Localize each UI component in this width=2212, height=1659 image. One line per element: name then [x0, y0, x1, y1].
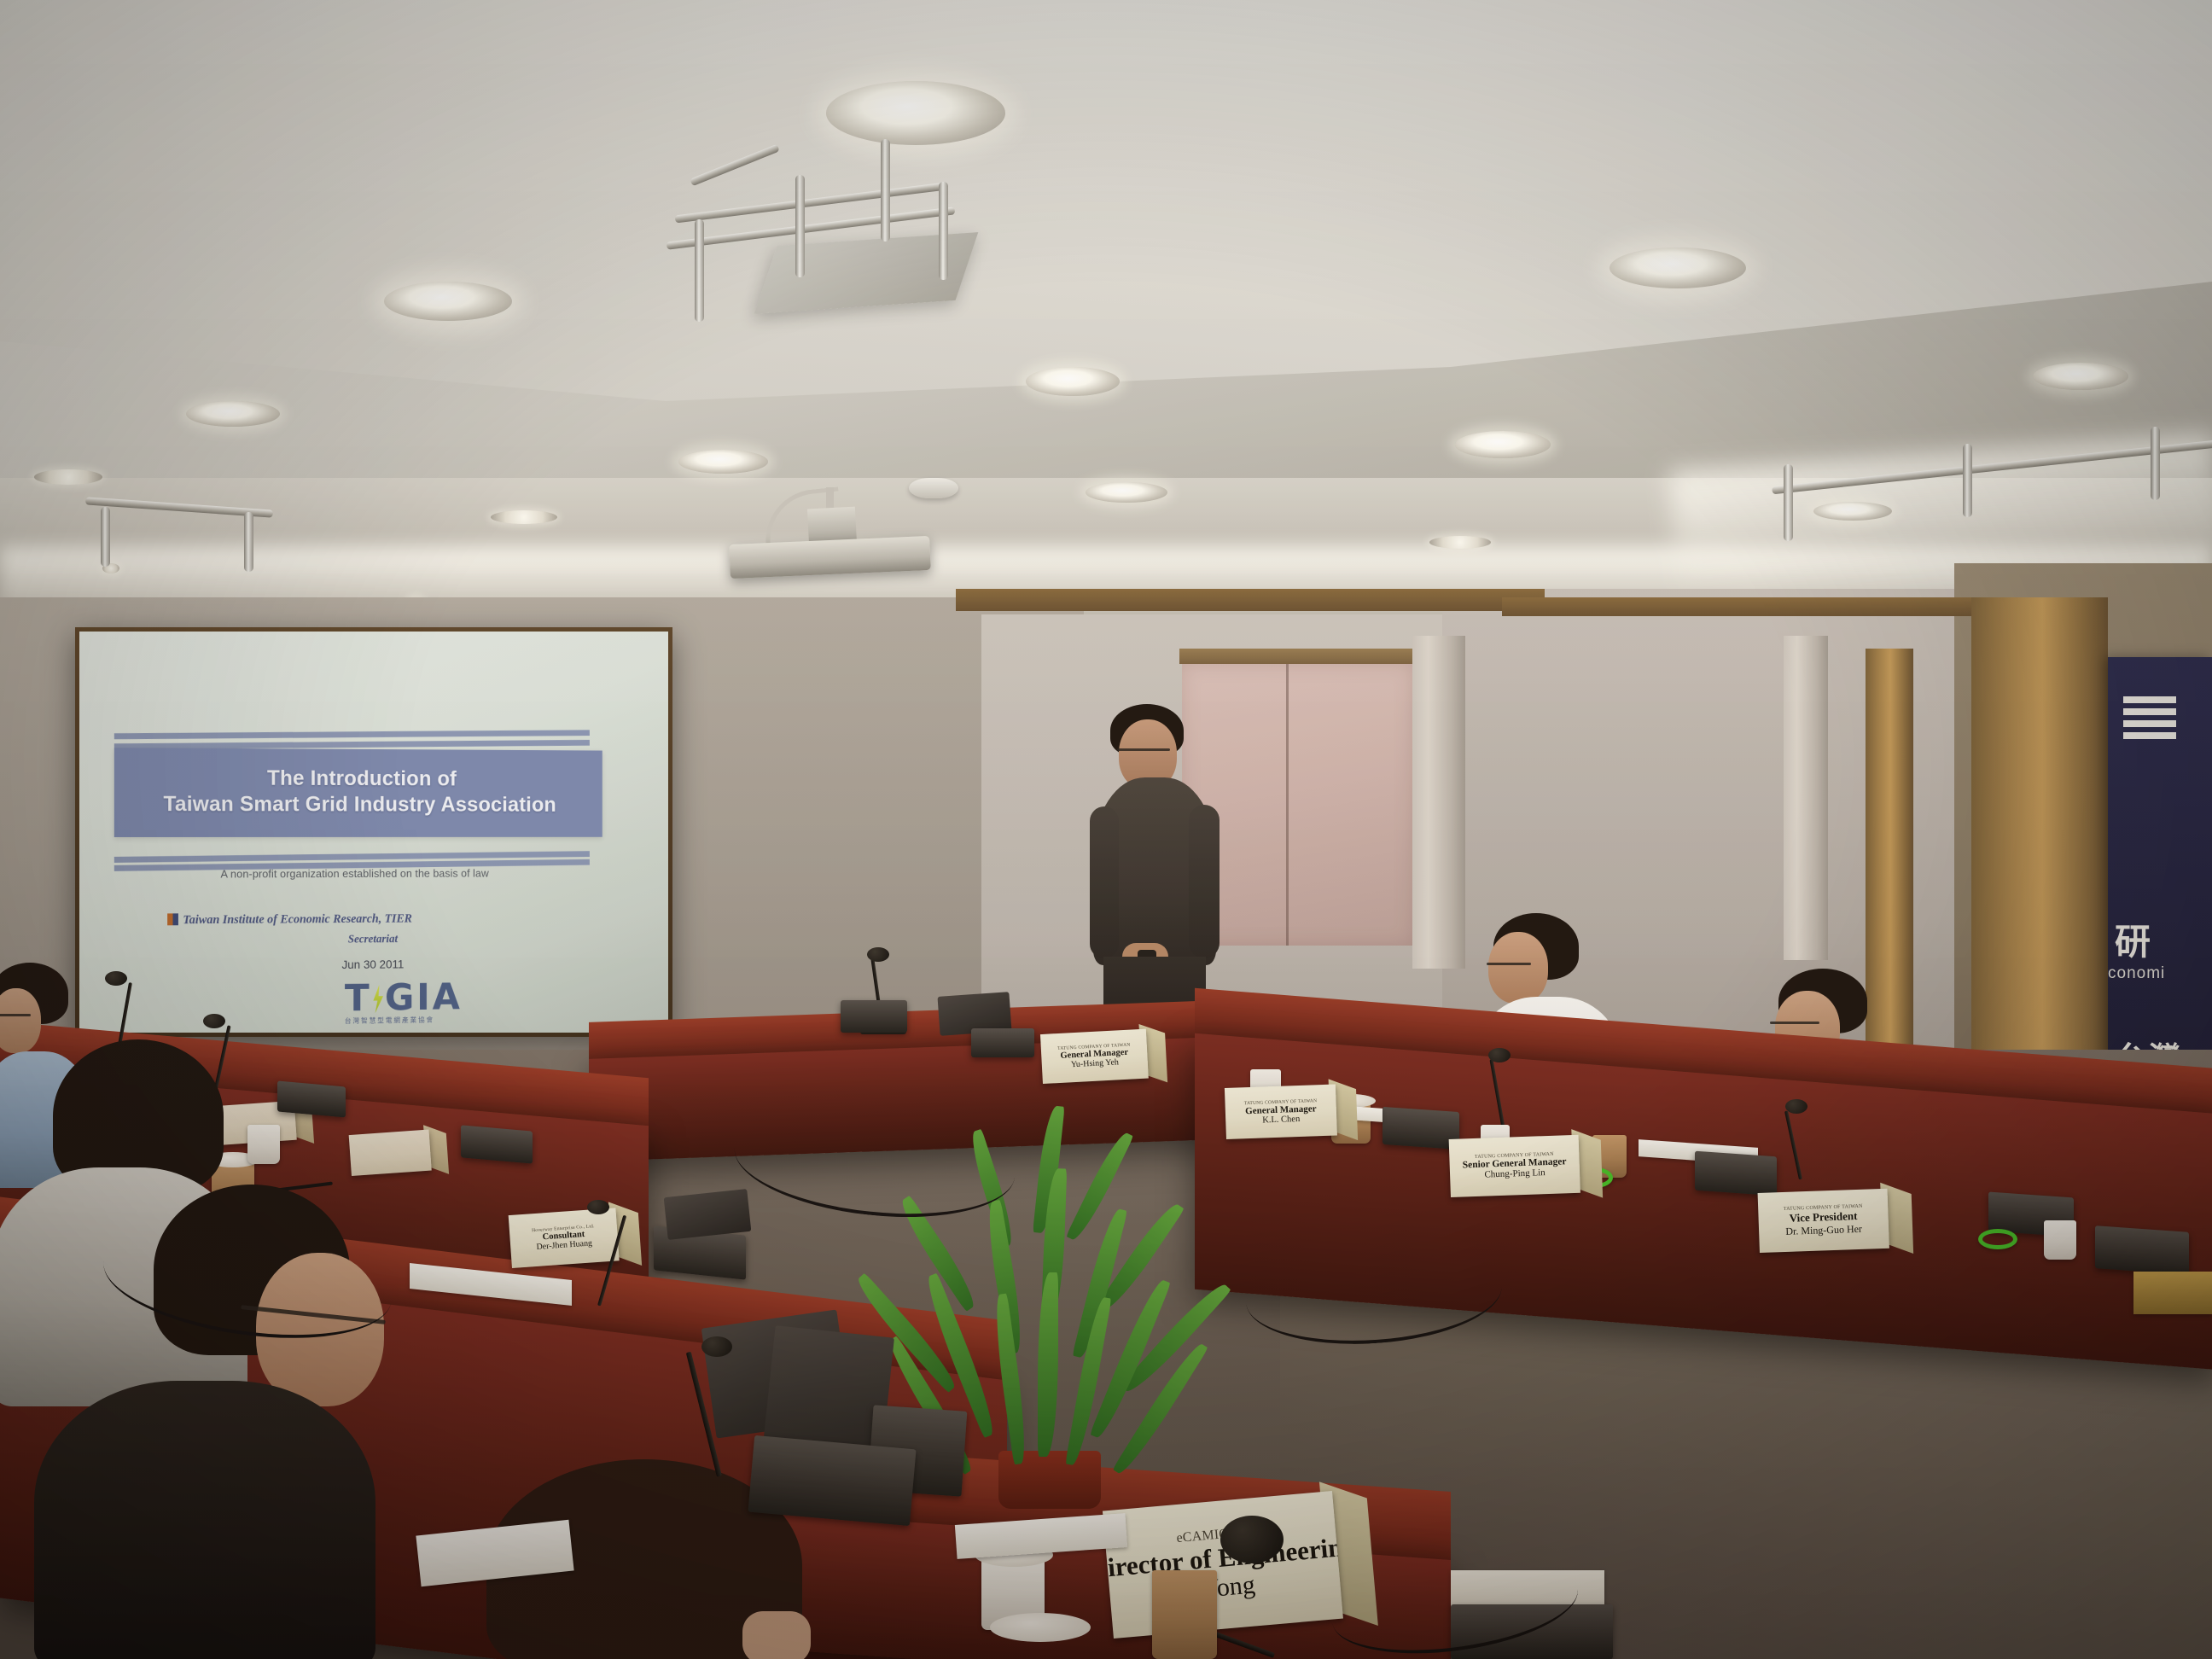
- attendee-torso: [34, 1381, 375, 1659]
- slide-organization: Taiwan Institute of Economic Research, T…: [167, 911, 573, 928]
- slide-title-line2: Taiwan Smart Grid Industry Association: [121, 791, 596, 818]
- slide-title-line1: The Introduction of: [121, 765, 596, 793]
- slide-title-block: The Introduction of Taiwan Smart Grid In…: [114, 748, 602, 838]
- placard-senior-general-manager-lin: TATUNG COMPANY OF TAIWAN Senior General …: [1449, 1135, 1580, 1197]
- slide-rule-top: [114, 730, 590, 739]
- placard-role: [389, 1150, 391, 1156]
- paper-cup: [2044, 1220, 2076, 1260]
- mic-head: [867, 947, 889, 962]
- delegate-unit: [971, 1028, 1034, 1057]
- delegate-unit: [277, 1081, 346, 1118]
- pendant-post: [939, 182, 948, 280]
- placard-director-of-engineering-wong: eCAMION Inc. Director of Engineering Won…: [1103, 1491, 1343, 1639]
- tsgia-logo-chinese: 台灣智慧型電網產業協會: [345, 1013, 601, 1026]
- document-paper: [2133, 1272, 2212, 1314]
- delegate-unit: [841, 1000, 907, 1033]
- slide-subtitle: A non-profit organization established on…: [114, 867, 590, 881]
- ceiling-rail-post: [2151, 427, 2160, 500]
- wall-trim: [1502, 597, 2031, 616]
- placard-face: [349, 1130, 432, 1176]
- projection-screen: The Introduction of Taiwan Smart Grid In…: [75, 627, 672, 1037]
- attendee-glasses-icon: [0, 1014, 31, 1016]
- cup-lid: [990, 1613, 1091, 1642]
- placard-general-manager-yeh: TATUNG COMPANY OF TAIWAN General Manager…: [1040, 1029, 1149, 1084]
- ceiling: [0, 0, 2212, 649]
- attendee-head: [1488, 932, 1548, 1004]
- plant-leaf: [990, 1294, 1031, 1465]
- presentation-slide: The Introduction of Taiwan Smart Grid In…: [79, 632, 644, 1033]
- ceiling-rail-post: [1784, 464, 1793, 541]
- attendee-glasses-icon: [1487, 963, 1531, 965]
- ceiling-downlight: [1026, 367, 1120, 396]
- tsgia-logo-text: TGIA: [345, 979, 601, 1015]
- chrome-pendant-fixture: [683, 158, 1024, 329]
- conference-room-photo: 研 conomi 台灣 aiwan In The Introduction of…: [0, 0, 2212, 1659]
- ceiling-projector: [730, 499, 934, 585]
- mic-head: [1488, 1048, 1511, 1062]
- delegate-unit: [748, 1435, 916, 1526]
- ceiling-downlight: [1610, 247, 1746, 288]
- slide-organization-text: Taiwan Institute of Economic Research, T…: [183, 912, 412, 927]
- placard-face: TATUNG COMPANY OF TAIWAN Vice President …: [1758, 1189, 1889, 1253]
- blind-seam: [1286, 664, 1289, 946]
- placard-face: Hoverway Enterprise Co., Ltd. Consultant…: [509, 1208, 620, 1268]
- placard-face: eCAMION Inc. Director of Engineering Won…: [1103, 1491, 1343, 1639]
- green-ring: [1978, 1229, 2017, 1249]
- wall-pillar: [1784, 636, 1828, 960]
- mic-head: [105, 971, 127, 986]
- placard-face: TATUNG COMPANY OF TAIWAN Senior General …: [1449, 1135, 1580, 1197]
- placard-consultant-huang: Hoverway Enterprise Co., Ltd. Consultant…: [509, 1208, 620, 1268]
- tier-mark-icon: [167, 914, 178, 926]
- ceiling-downlight: [384, 282, 512, 321]
- ceiling-downlight: [1429, 536, 1491, 549]
- ceiling-downlight: [826, 81, 1005, 145]
- blind-headrail: [1179, 649, 1414, 664]
- delegate-unit: [461, 1125, 533, 1163]
- ceiling-rail-post: [101, 507, 110, 567]
- ceiling-downlight: [1455, 431, 1551, 458]
- ceiling-rail-post: [244, 512, 253, 572]
- delegate-unit: [1695, 1151, 1777, 1196]
- ceiling-downlight: [34, 469, 102, 485]
- banner-english-1: conomi: [2108, 964, 2165, 983]
- presenter: [1088, 704, 1233, 1037]
- projection-screen-surface: The Introduction of Taiwan Smart Grid In…: [79, 632, 668, 1033]
- placard-name: Dr. Ming-Guo Her: [1785, 1222, 1862, 1237]
- placard-face: TATUNG COMPANY OF TAIWAN General Manager…: [1040, 1029, 1149, 1084]
- delegate-unit: [1382, 1107, 1459, 1150]
- delegate-unit: [2095, 1225, 2189, 1275]
- presenter-arm-left: [1090, 806, 1119, 958]
- tier-logo-icon: [2123, 691, 2176, 748]
- placard-face: TATUNG COMPANY OF TAIWAN General Manager…: [1225, 1084, 1337, 1139]
- smoke-detector-icon: [909, 478, 958, 498]
- ceiling-downlight: [678, 450, 768, 474]
- banner-chinese-1: 研: [2115, 913, 2152, 965]
- mic-head: [587, 1200, 609, 1214]
- mic-head: [203, 1014, 225, 1028]
- mic-head: [1785, 1099, 1807, 1114]
- pendant-post: [795, 175, 805, 277]
- ceiling-downlight: [186, 401, 280, 427]
- ceiling-rail-post: [1963, 444, 1972, 517]
- projector-body: [729, 536, 931, 579]
- wall-trim: [956, 589, 1545, 611]
- placard-vice-president-her: TATUNG COMPANY OF TAIWAN Vice President …: [1758, 1189, 1889, 1253]
- lightning-bolt-icon: [372, 985, 385, 1013]
- ceiling-downlight: [1086, 482, 1167, 503]
- placard-name: K.L. Chen: [1262, 1114, 1300, 1125]
- slide-department: Secretariat: [167, 931, 573, 947]
- pendant-post: [881, 139, 890, 242]
- placard-name: Yu-Hsing Yeh: [1071, 1057, 1120, 1069]
- ceiling-downlight: [2033, 363, 2128, 390]
- kraft-cup: [1152, 1570, 1217, 1659]
- plant-leaf: [1038, 1272, 1058, 1457]
- slide-date: Jun 30 2011: [167, 956, 573, 973]
- mic-head: [701, 1336, 732, 1357]
- tsgia-logo: TGIA 台灣智慧型電網產業協會: [345, 979, 601, 1025]
- ceiling-downlight: [491, 510, 557, 524]
- tsgia-logo-gia: GIA: [385, 975, 463, 1019]
- presenter-glasses-icon: [1117, 748, 1170, 751]
- attendee-glasses-icon: [1770, 1022, 1819, 1024]
- pendant-post: [695, 219, 704, 322]
- mic-head: [1220, 1516, 1284, 1563]
- attendee-hand: [742, 1611, 811, 1659]
- ceiling-downlight: [1813, 502, 1892, 521]
- delegate-unit-lid: [664, 1189, 752, 1240]
- placard-left-far-2: [349, 1130, 432, 1176]
- placard-general-manager-chen: TATUNG COMPANY OF TAIWAN General Manager…: [1225, 1084, 1337, 1139]
- wall-pillar: [1412, 636, 1465, 969]
- presenter-arm-right: [1189, 805, 1220, 958]
- tsgia-logo-t: T: [345, 976, 372, 1019]
- ceiling-recess: [0, 0, 2212, 401]
- placard-name: Chung-Ping Lin: [1484, 1167, 1545, 1179]
